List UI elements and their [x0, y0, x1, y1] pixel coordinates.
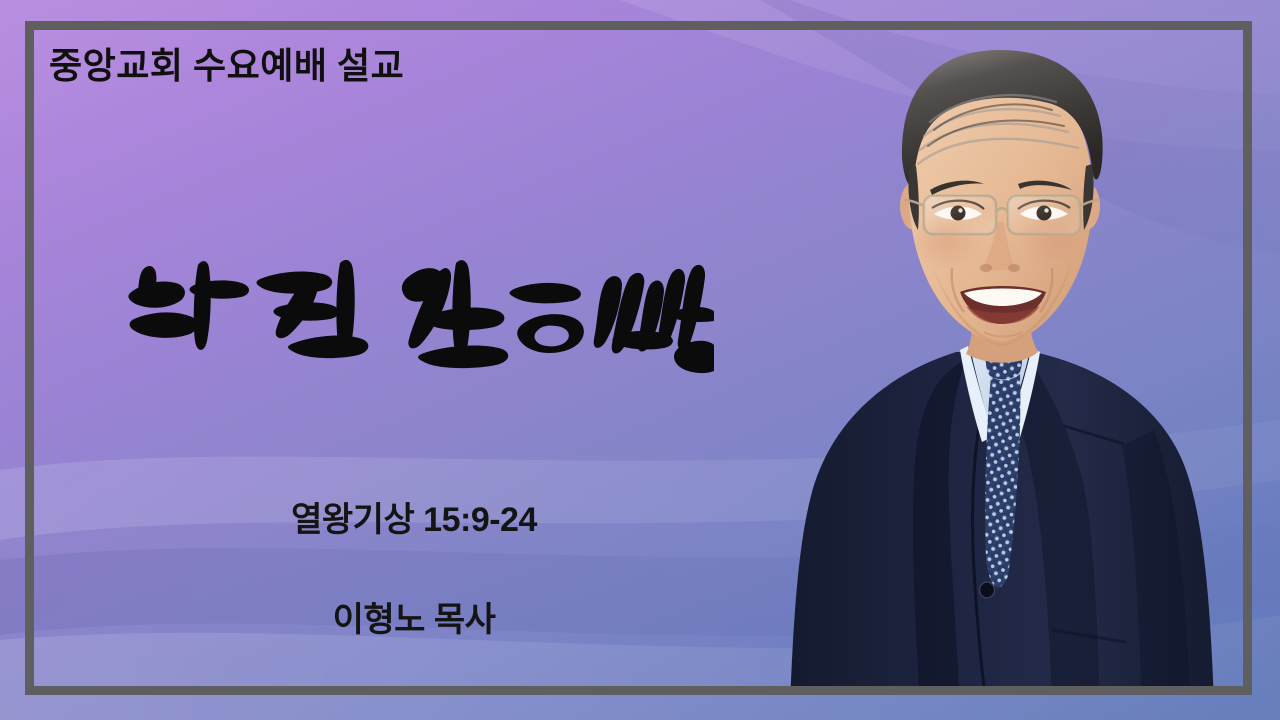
header-title: 중앙교회 수요예배 설교: [49, 46, 404, 87]
scripture-reference: 열왕기상 15:9-24: [34, 492, 794, 541]
speaker-name: 이형노 목사: [34, 592, 794, 641]
slide-frame-border: 중앙교회 수요예배 설교: [25, 21, 1252, 695]
main-title: [94, 235, 794, 385]
preacher-portrait: [734, 30, 1243, 686]
frame-content-area: 중앙교회 수요예배 설교: [34, 30, 1243, 686]
sermon-title-slide: 중앙교회 수요예배 설교: [0, 0, 1280, 720]
